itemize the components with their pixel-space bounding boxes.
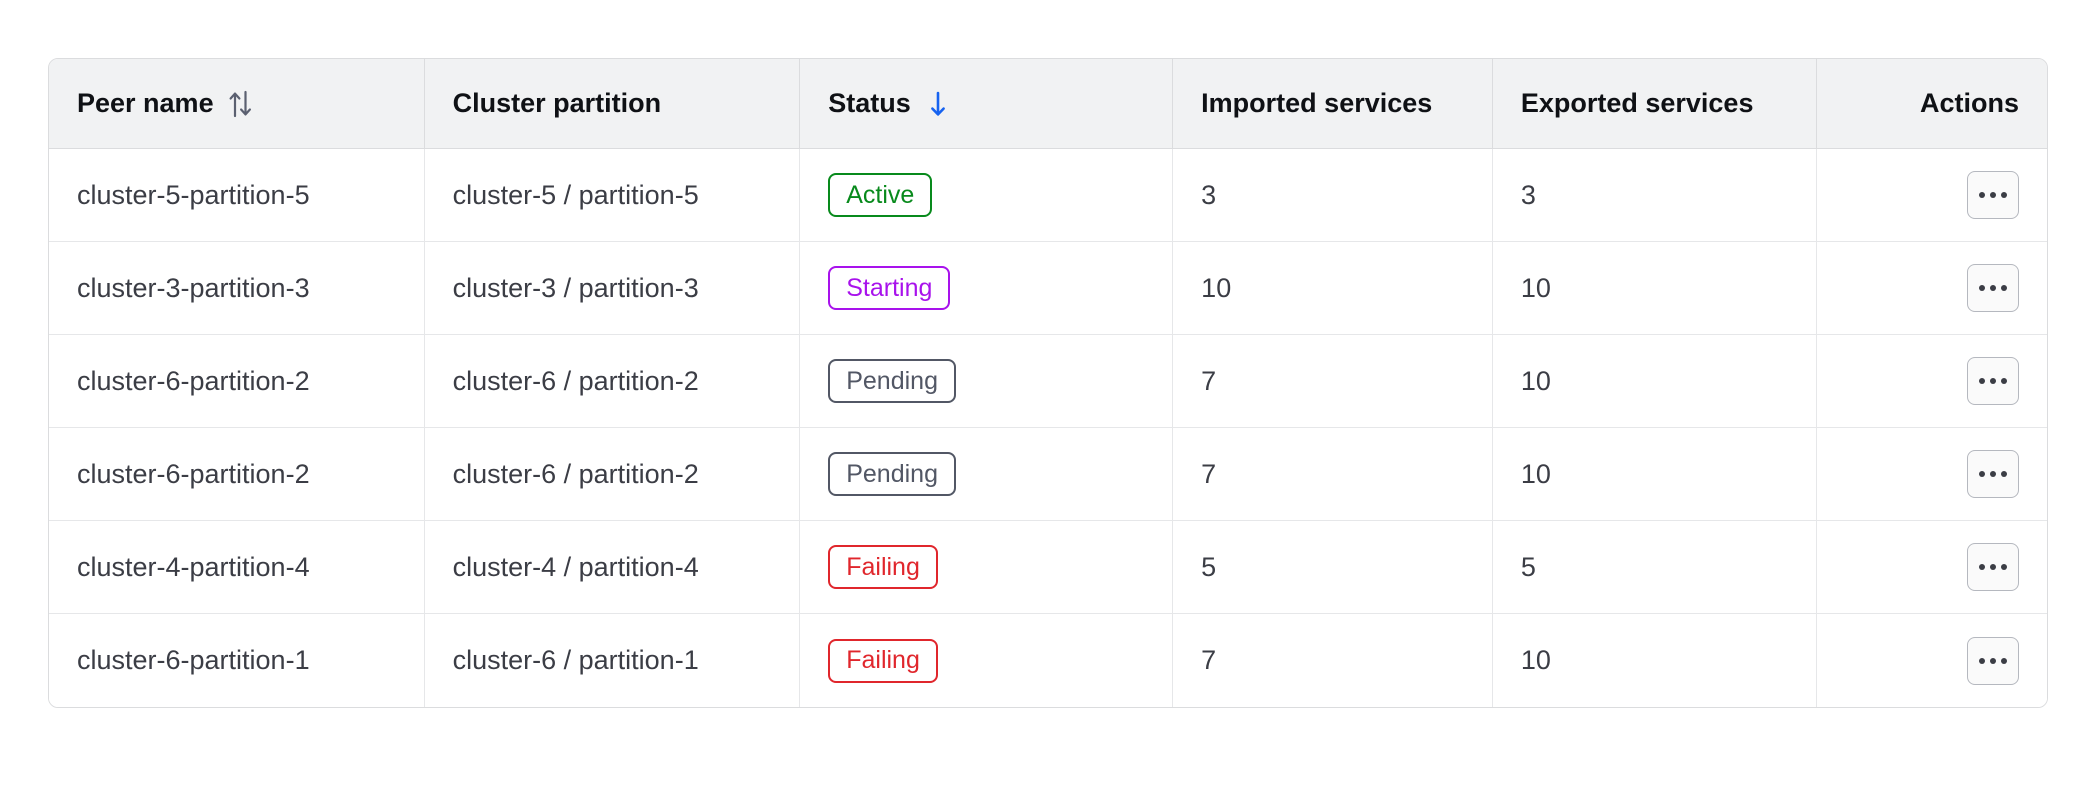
table-header: Peer name xyxy=(49,59,2047,149)
row-actions-menu-button[interactable] xyxy=(1967,264,2019,312)
ellipsis-icon xyxy=(1979,471,2007,477)
table-row: cluster-6-partition-2 cluster-6 / partit… xyxy=(49,428,2047,521)
column-header-label: Peer name xyxy=(77,88,214,119)
row-actions-menu-button[interactable] xyxy=(1967,543,2019,591)
cell-cluster-partition: cluster-3 / partition-3 xyxy=(425,242,801,335)
cell-imported-services: 7 xyxy=(1173,335,1493,428)
cell-imported-services: 7 xyxy=(1173,428,1493,521)
cell-actions xyxy=(1817,335,2047,428)
page-root: Peer name xyxy=(0,0,2096,808)
column-header-exported-services[interactable]: Exported services xyxy=(1493,59,1817,149)
status-badge: Pending xyxy=(828,452,956,496)
ellipsis-icon xyxy=(1979,285,2007,291)
status-badge: Failing xyxy=(828,545,938,589)
column-header-label: Cluster partition xyxy=(453,88,662,119)
ellipsis-icon xyxy=(1979,564,2007,570)
table-row: cluster-3-partition-3 cluster-3 / partit… xyxy=(49,242,2047,335)
sort-both-arrows-icon[interactable] xyxy=(228,89,254,119)
column-header-actions: Actions xyxy=(1817,59,2047,149)
status-badge: Starting xyxy=(828,266,950,310)
ellipsis-icon xyxy=(1979,192,2007,198)
cell-exported-services: 3 xyxy=(1493,149,1817,242)
column-header-label: Exported services xyxy=(1521,88,1754,119)
cell-status: Active xyxy=(800,149,1173,242)
column-header-label: Actions xyxy=(1920,88,2019,119)
cell-status: Starting xyxy=(800,242,1173,335)
table-row: cluster-4-partition-4 cluster-4 / partit… xyxy=(49,521,2047,614)
column-header-imported-services[interactable]: Imported services xyxy=(1173,59,1493,149)
cell-peer-name: cluster-5-partition-5 xyxy=(49,149,425,242)
table-header-row: Peer name xyxy=(49,59,2047,149)
status-badge: Pending xyxy=(828,359,956,403)
cell-actions xyxy=(1817,242,2047,335)
ellipsis-icon xyxy=(1979,658,2007,664)
cell-cluster-partition: cluster-5 / partition-5 xyxy=(425,149,801,242)
cell-exported-services: 10 xyxy=(1493,428,1817,521)
cell-imported-services: 5 xyxy=(1173,521,1493,614)
cell-status: Failing xyxy=(800,614,1173,707)
column-header-peer-name[interactable]: Peer name xyxy=(49,59,425,149)
column-header-label: Imported services xyxy=(1201,88,1432,119)
row-actions-menu-button[interactable] xyxy=(1967,450,2019,498)
table-row: cluster-5-partition-5 cluster-5 / partit… xyxy=(49,149,2047,242)
cell-actions xyxy=(1817,428,2047,521)
peerings-table: Peer name xyxy=(48,58,2048,708)
cell-actions xyxy=(1817,149,2047,242)
ellipsis-icon xyxy=(1979,378,2007,384)
cell-status: Pending xyxy=(800,428,1173,521)
cell-cluster-partition: cluster-6 / partition-2 xyxy=(425,428,801,521)
row-actions-menu-button[interactable] xyxy=(1967,357,2019,405)
column-header-label: Status xyxy=(828,88,911,119)
cell-imported-services: 10 xyxy=(1173,242,1493,335)
status-badge: Active xyxy=(828,173,932,217)
peerings-table-container: Peer name xyxy=(48,58,2048,708)
arrow-down-icon[interactable] xyxy=(925,89,951,119)
cell-imported-services: 7 xyxy=(1173,614,1493,707)
cell-exported-services: 10 xyxy=(1493,614,1817,707)
cell-exported-services: 10 xyxy=(1493,335,1817,428)
cell-peer-name: cluster-4-partition-4 xyxy=(49,521,425,614)
column-header-cluster-partition[interactable]: Cluster partition xyxy=(425,59,801,149)
cell-exported-services: 5 xyxy=(1493,521,1817,614)
cell-cluster-partition: cluster-6 / partition-2 xyxy=(425,335,801,428)
table-row: cluster-6-partition-2 cluster-6 / partit… xyxy=(49,335,2047,428)
cell-status: Failing xyxy=(800,521,1173,614)
cell-peer-name: cluster-6-partition-2 xyxy=(49,335,425,428)
row-actions-menu-button[interactable] xyxy=(1967,171,2019,219)
cell-exported-services: 10 xyxy=(1493,242,1817,335)
cell-cluster-partition: cluster-4 / partition-4 xyxy=(425,521,801,614)
cell-status: Pending xyxy=(800,335,1173,428)
row-actions-menu-button[interactable] xyxy=(1967,637,2019,685)
cell-imported-services: 3 xyxy=(1173,149,1493,242)
cell-actions xyxy=(1817,614,2047,707)
cell-peer-name: cluster-6-partition-1 xyxy=(49,614,425,707)
column-header-status[interactable]: Status xyxy=(800,59,1173,149)
table-row: cluster-6-partition-1 cluster-6 / partit… xyxy=(49,614,2047,707)
cell-peer-name: cluster-3-partition-3 xyxy=(49,242,425,335)
cell-cluster-partition: cluster-6 / partition-1 xyxy=(425,614,801,707)
cell-peer-name: cluster-6-partition-2 xyxy=(49,428,425,521)
cell-actions xyxy=(1817,521,2047,614)
table-body: cluster-5-partition-5 cluster-5 / partit… xyxy=(49,149,2047,707)
status-badge: Failing xyxy=(828,639,938,683)
